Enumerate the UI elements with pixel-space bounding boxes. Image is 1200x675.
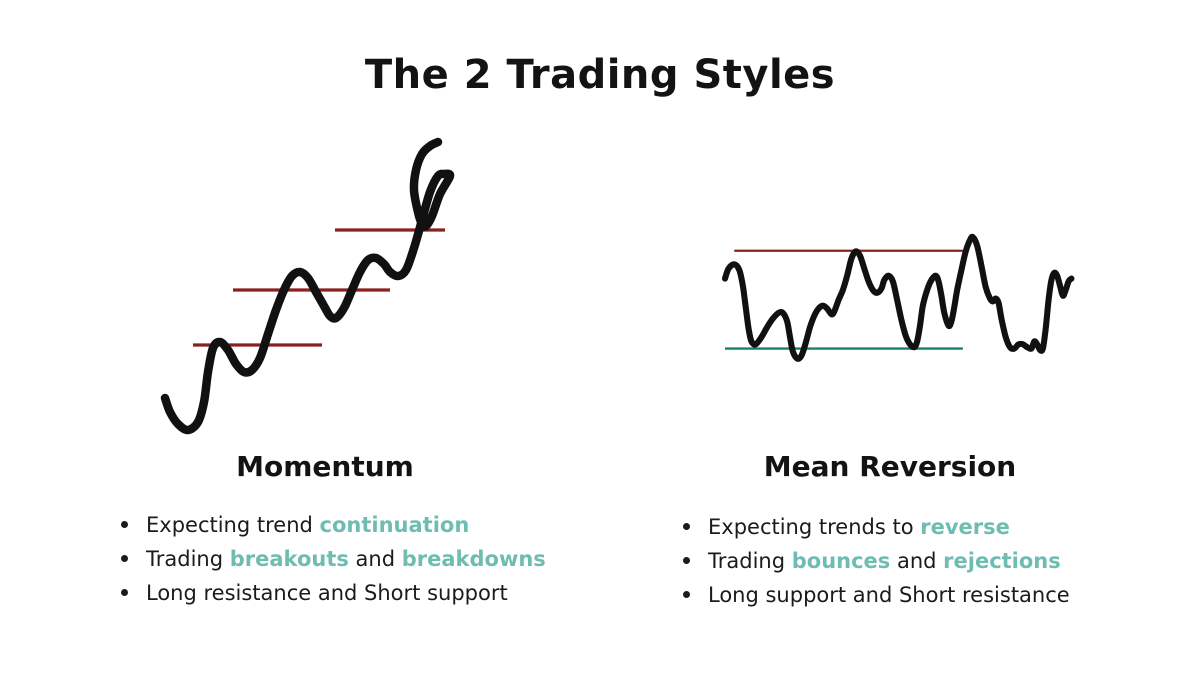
mean-reversion-bullet-list: Expecting trends to reverseTrading bounc…: [678, 510, 1158, 612]
bullet-dot-icon: [121, 521, 128, 528]
bullet-text: Expecting trends to: [708, 515, 920, 539]
bullet-text: Long resistance and Short support: [146, 581, 508, 605]
bullet-text: Trading: [708, 549, 792, 573]
bullet-text: Trading: [146, 547, 230, 571]
bullet-dot-icon: [683, 591, 690, 598]
highlight-keyword: continuation: [320, 513, 470, 537]
highlight-keyword: bounces: [792, 549, 891, 573]
bullet-text: Long support and Short resistance: [708, 583, 1070, 607]
list-item: Trading bounces and rejections: [678, 544, 1158, 578]
list-item: Trading breakouts and breakdowns: [116, 542, 586, 576]
mean-reversion-heading: Mean Reversion: [690, 450, 1090, 483]
page-title: The 2 Trading Styles: [0, 52, 1200, 98]
bullet-dot-icon: [121, 555, 128, 562]
bullet-dot-icon: [121, 589, 128, 596]
momentum-bullet-list: Expecting trend continuationTrading brea…: [116, 508, 586, 610]
price-curve: [725, 237, 1071, 359]
bullet-dot-icon: [683, 523, 690, 530]
highlight-keyword: breakdowns: [402, 547, 546, 571]
bullet-text: and: [349, 547, 402, 571]
slide-canvas: The 2 Trading Styles Momentum Expecting …: [0, 0, 1200, 675]
price-curve: [165, 142, 450, 430]
list-item: Expecting trend continuation: [116, 508, 586, 542]
bullet-dot-icon: [683, 557, 690, 564]
mean-reversion-chart: [700, 190, 1100, 410]
list-item: Long resistance and Short support: [116, 576, 586, 610]
highlight-keyword: reverse: [920, 515, 1010, 539]
bullet-text: Expecting trend: [146, 513, 320, 537]
list-item: Long support and Short resistance: [678, 578, 1158, 612]
momentum-chart: [140, 120, 470, 450]
list-item: Expecting trends to reverse: [678, 510, 1158, 544]
highlight-keyword: rejections: [943, 549, 1061, 573]
momentum-heading: Momentum: [130, 450, 520, 483]
bullet-text: and: [890, 549, 943, 573]
highlight-keyword: breakouts: [230, 547, 349, 571]
